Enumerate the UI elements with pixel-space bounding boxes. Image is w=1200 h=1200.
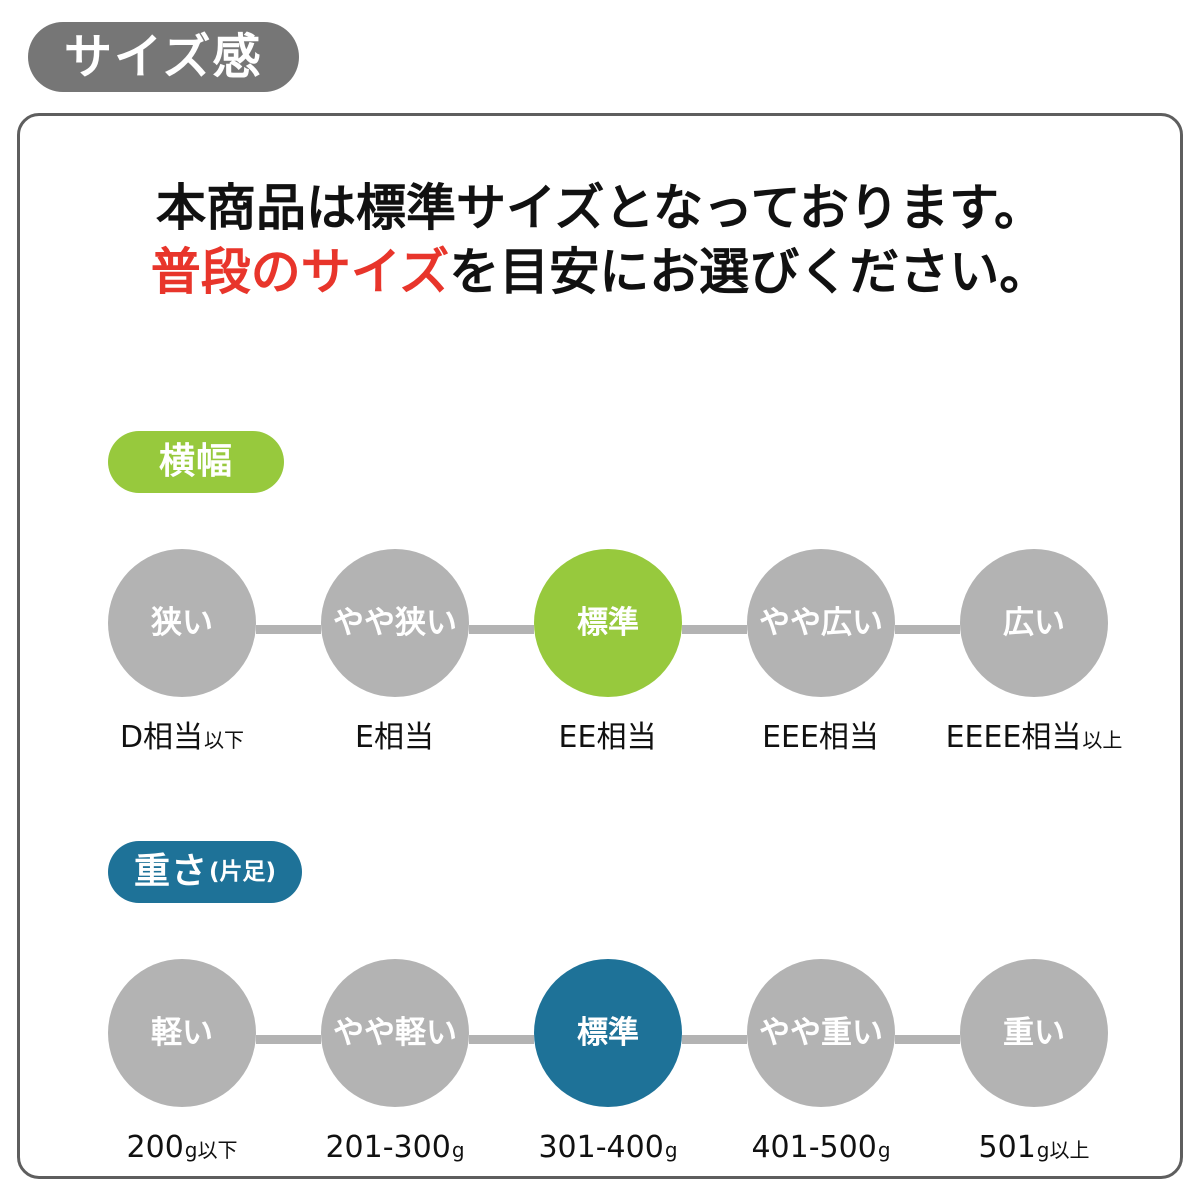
scale-caption-main: 501 — [979, 1133, 1036, 1163]
section-label-width-text: 横幅 — [159, 444, 233, 480]
scale-caption-sub: g — [452, 1140, 465, 1160]
section-label-weight-sub: (片足) — [209, 861, 276, 884]
scale-bubble[interactable]: やや軽い — [321, 959, 469, 1107]
scale-node[interactable]: やや重い 401-500g — [747, 959, 895, 1163]
scale-nodes-width: 狭い D相当以下 やや狭い E相当 — [108, 549, 1108, 753]
scale-bubble[interactable]: 重い — [960, 959, 1108, 1107]
scale-bubble-label: 広い — [1003, 608, 1065, 639]
scale-bubble-label: 重い — [1003, 1018, 1065, 1049]
scale-bubble[interactable]: 狭い — [108, 549, 256, 697]
scale-caption-main: E相当 — [355, 723, 434, 753]
scale-node-active[interactable]: 標準 301-400g — [534, 959, 682, 1163]
scale-bubble-label: 狭い — [151, 608, 213, 639]
scale-bubble-label: 標準 — [577, 1018, 639, 1049]
scale-caption: 301-400g — [538, 1133, 677, 1163]
section-heading-badge: サイズ感 — [28, 22, 299, 92]
scale-caption-sub: g — [878, 1140, 891, 1160]
scale-caption-main: D相当 — [120, 723, 203, 753]
scale-caption: EE相当 — [559, 723, 658, 753]
scale-bubble[interactable]: やや広い — [747, 549, 895, 697]
scale-node[interactable]: やや狭い E相当 — [321, 549, 469, 753]
scale-caption-main: EE相当 — [559, 723, 657, 753]
scale-node[interactable]: 広い EEEE相当以上 — [960, 549, 1108, 753]
scale-bubble[interactable]: 広い — [960, 549, 1108, 697]
scale-bubble-label: やや狭い — [333, 608, 457, 639]
scale-caption-main: EEE相当 — [762, 723, 879, 753]
scale-caption-main: 301-400 — [538, 1133, 663, 1163]
headline-line-2-rest: を目安にお選びください。 — [449, 243, 1049, 301]
size-guide-page: サイズ感 本商品は標準サイズとなっております。 普段のサイズを目安にお選びくださ… — [0, 0, 1200, 1200]
scale-caption-sub: g — [665, 1140, 678, 1160]
scale-caption: 401-500g — [751, 1133, 890, 1163]
scale-caption-sub: g以上 — [1037, 1140, 1090, 1160]
scale-caption-main: 401-500 — [751, 1133, 876, 1163]
section-label-weight: 重さ(片足) — [108, 841, 302, 903]
scale-caption-main: 201-300 — [325, 1133, 450, 1163]
scale-caption: E相当 — [355, 723, 435, 753]
headline-line-1: 本商品は標準サイズとなっております。 — [20, 176, 1180, 240]
scale-caption-sub: 以下 — [204, 730, 244, 750]
scale-caption: 201-300g — [325, 1133, 464, 1163]
scale-node[interactable]: やや広い EEE相当 — [747, 549, 895, 753]
scale-node[interactable]: 狭い D相当以下 — [108, 549, 256, 753]
scale-bubble[interactable]: やや重い — [747, 959, 895, 1107]
scale-caption-main: 200 — [127, 1133, 184, 1163]
scale-node[interactable]: やや軽い 201-300g — [321, 959, 469, 1163]
scale-caption: EEE相当 — [762, 723, 880, 753]
scale-caption-sub: g以下 — [185, 1140, 238, 1160]
scale-bubble[interactable]: 軽い — [108, 959, 256, 1107]
scale-bubble-label: 標準 — [577, 608, 639, 639]
scale-node[interactable]: 重い 501g以上 — [960, 959, 1108, 1163]
scale-bubble-label: やや重い — [759, 1018, 883, 1049]
scale-caption: D相当以下 — [120, 723, 244, 753]
scale-weight: 軽い 200g以下 やや軽い 201-300g — [108, 959, 1108, 1177]
section-heading-label: サイズ感 — [64, 33, 263, 81]
scale-bubble-label: 軽い — [151, 1018, 213, 1049]
scale-width: 狭い D相当以下 やや狭い E相当 — [108, 549, 1108, 767]
scale-bubble-active[interactable]: 標準 — [534, 959, 682, 1107]
scale-caption: 200g以下 — [127, 1133, 238, 1163]
scale-caption-sub: 以上 — [1082, 730, 1122, 750]
scale-caption-main: EEEE相当 — [946, 723, 1082, 753]
scale-bubble-label: やや軽い — [333, 1018, 457, 1049]
section-label-weight-text: 重さ — [134, 854, 208, 890]
content-card: 本商品は標準サイズとなっております。 普段のサイズを目安にお選びください。 横幅 — [17, 113, 1183, 1179]
section-label-width: 横幅 — [108, 431, 284, 493]
scale-caption: EEEE相当以上 — [946, 723, 1123, 753]
scale-node[interactable]: 軽い 200g以下 — [108, 959, 256, 1163]
headline-block: 本商品は標準サイズとなっております。 普段のサイズを目安にお選びください。 — [20, 176, 1180, 304]
scale-bubble-label: やや広い — [759, 608, 883, 639]
headline-emphasis: 普段のサイズ — [151, 243, 450, 301]
headline-line-2: 普段のサイズを目安にお選びください。 — [20, 240, 1180, 304]
scale-bubble-active[interactable]: 標準 — [534, 549, 682, 697]
scale-bubble[interactable]: やや狭い — [321, 549, 469, 697]
scale-node-active[interactable]: 標準 EE相当 — [534, 549, 682, 753]
scale-nodes-weight: 軽い 200g以下 やや軽い 201-300g — [108, 959, 1108, 1163]
scale-caption: 501g以上 — [979, 1133, 1090, 1163]
